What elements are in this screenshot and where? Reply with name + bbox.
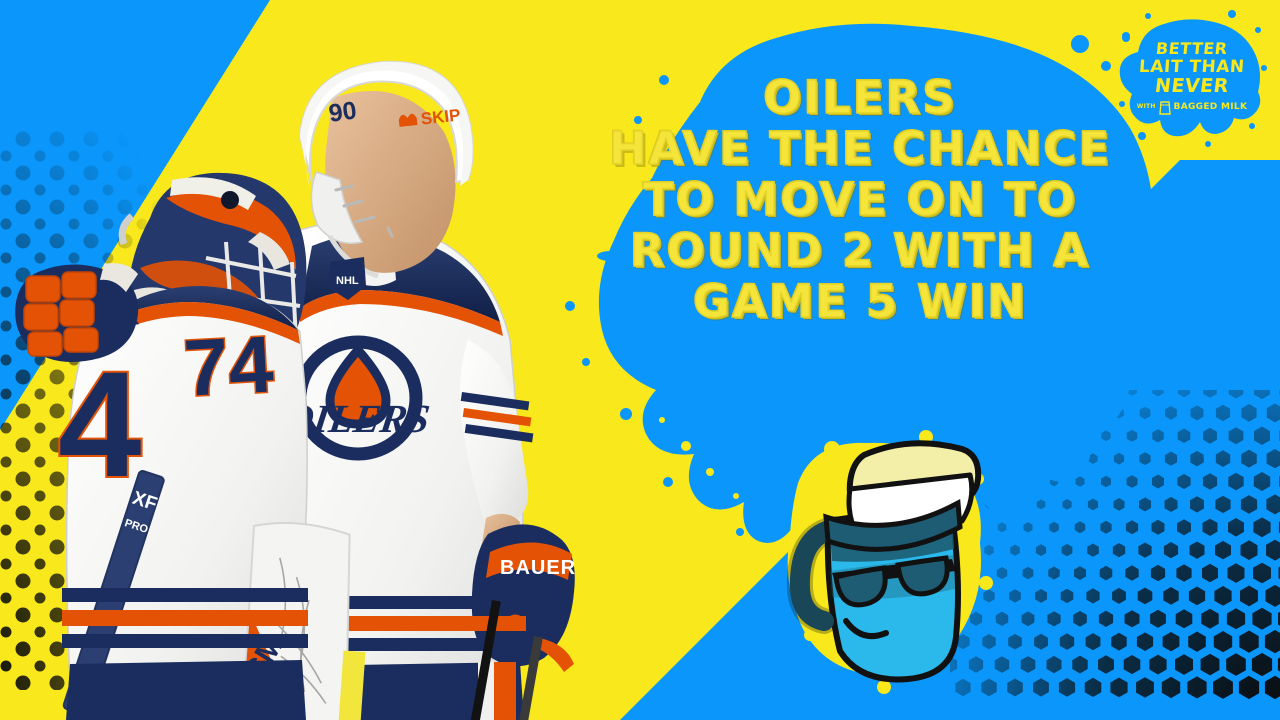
headline-line-5: GAME 5 WIN [560, 276, 1160, 327]
svg-text:90: 90 [327, 96, 358, 128]
hockey-players-photo: 90 SKIP NHL OILERS [0, 40, 620, 720]
logo-splat-icon [1112, 8, 1272, 148]
thumbnail-canvas: 90 SKIP NHL OILERS [0, 0, 1280, 720]
brand-logo[interactable]: BETTER LAIT THAN NEVER with BAGGED MILK [1112, 8, 1272, 148]
svg-text:BAUER: BAUER [500, 557, 576, 579]
bagged-milk-mascot-icon [780, 425, 1010, 695]
svg-text:NHL: NHL [336, 275, 359, 287]
headline-line-2: HAVE THE CHANCE [560, 123, 1160, 174]
svg-text:4: 4 [58, 340, 141, 508]
headline-line-1: OILERS [560, 72, 1160, 123]
headline-line-3: TO MOVE ON TO [560, 174, 1160, 225]
headline-text: OILERS HAVE THE CHANCE TO MOVE ON TO ROU… [560, 72, 1160, 327]
headline-line-4: ROUND 2 WITH A [560, 225, 1160, 276]
svg-text:74: 74 [182, 319, 276, 413]
